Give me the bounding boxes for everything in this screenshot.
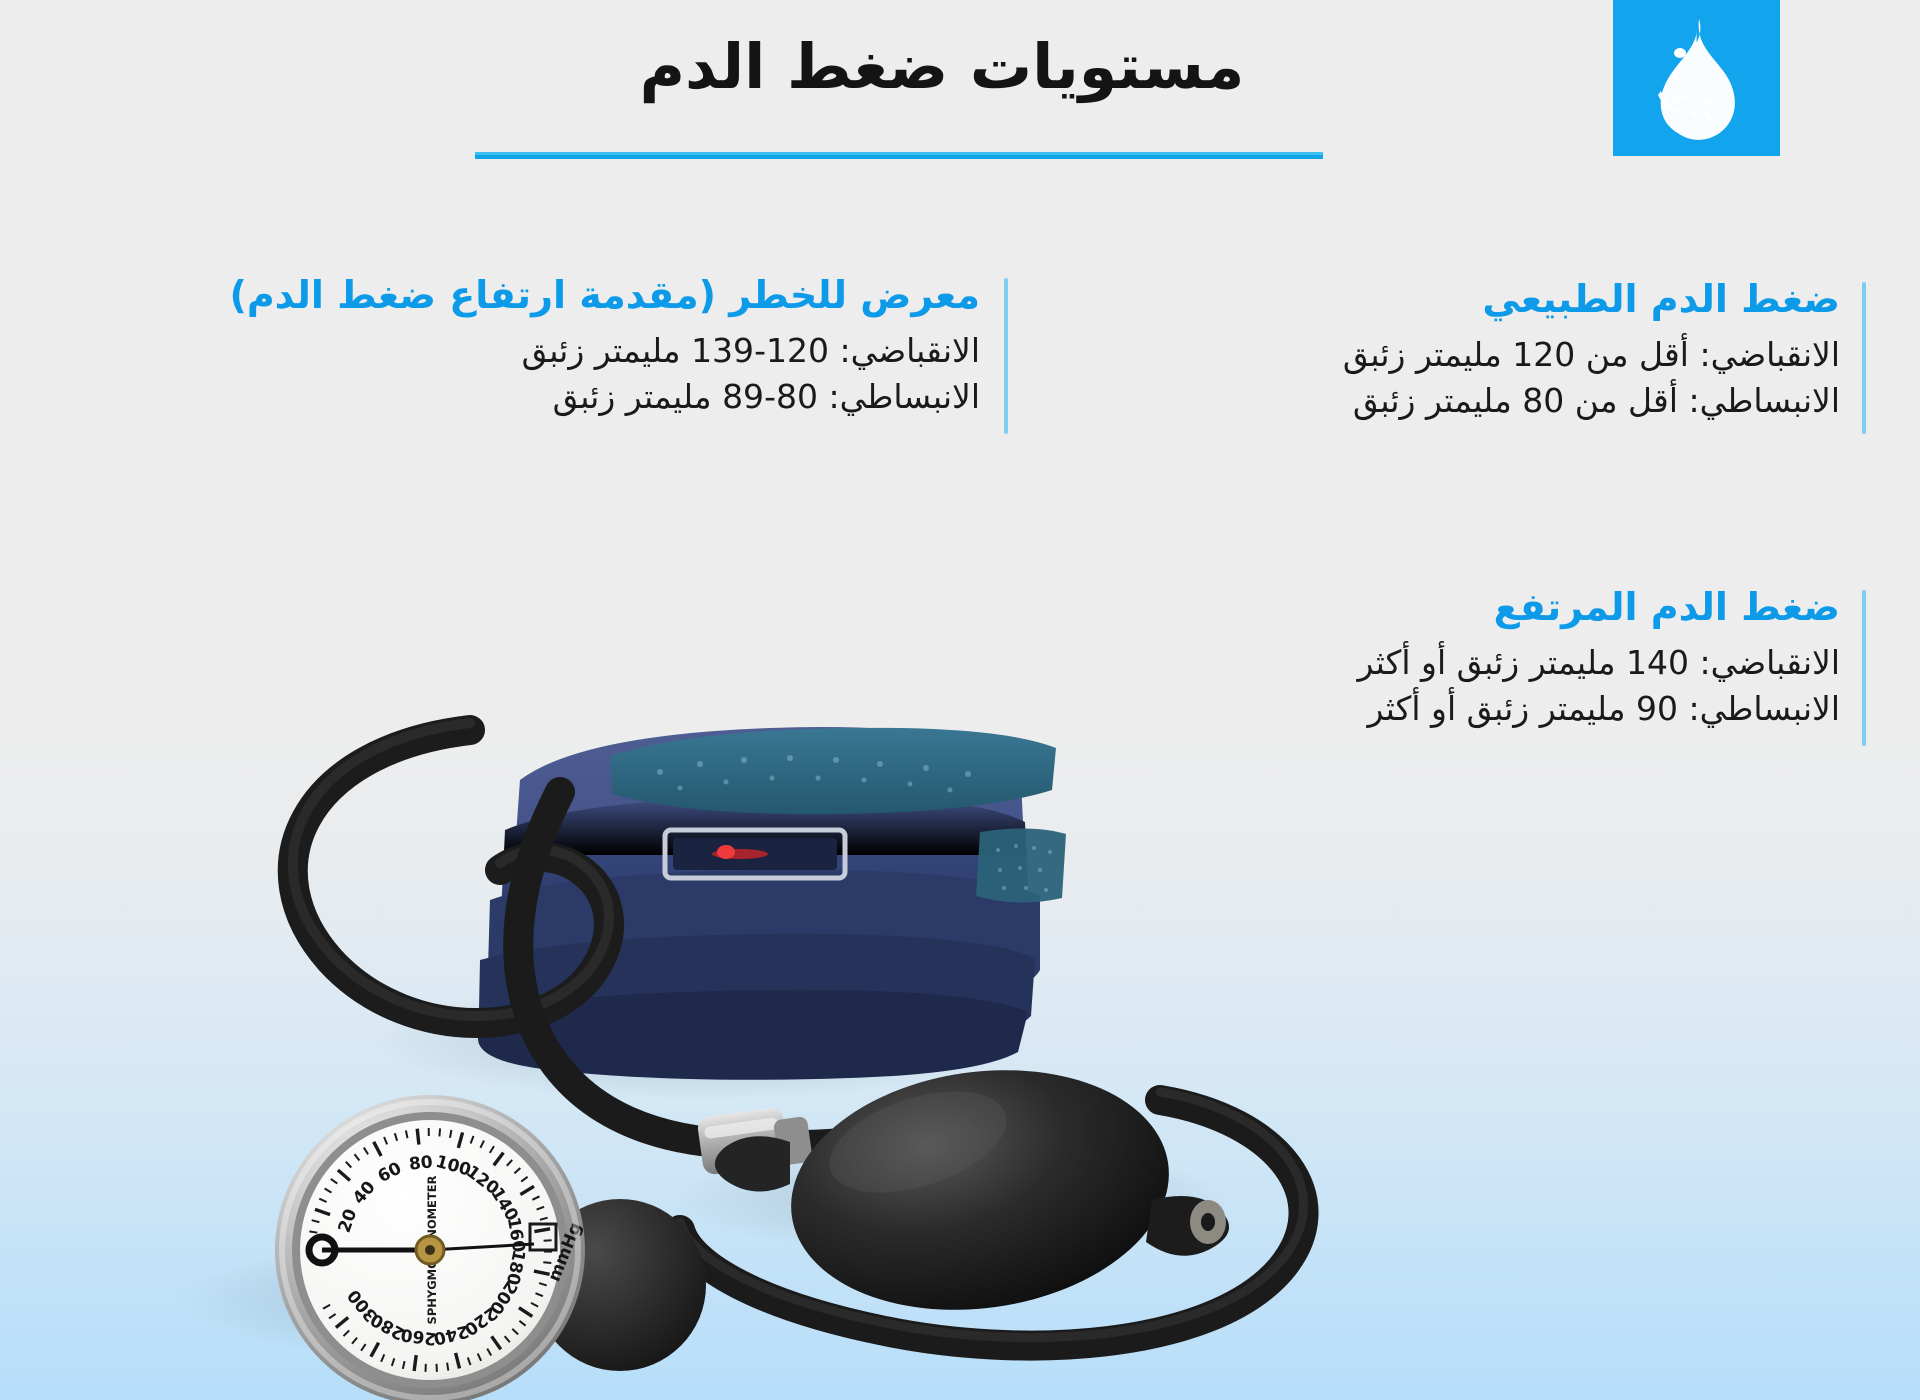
block-normal-systolic: الانقباضي: أقل من 120 مليمتر زئبق [1343, 332, 1840, 379]
title-underline [475, 152, 1323, 159]
gauge-tick-label: 80 [408, 1152, 434, 1174]
block-divider [1862, 282, 1866, 434]
sphygmomanometer-photo: 2040608010012014016018020022024026028030… [0, 400, 1500, 1400]
block-risk-systolic: الانقباضي: 120-139 مليمتر زئبق [229, 328, 980, 375]
infographic-canvas: مستويات ضغط الدم ضغط الدم الطبيعي الانقب… [0, 0, 1920, 1400]
block-at-risk-prehypertension: معرض للخطر (مقدمة ارتفاع ضغط الدم) الانق… [229, 272, 980, 421]
page-title: مستويات ضغط الدم [0, 32, 1902, 101]
block-divider [1862, 590, 1866, 746]
block-risk-heading: معرض للخطر (مقدمة ارتفاع ضغط الدم) [229, 272, 980, 320]
block-normal-heading: ضغط الدم الطبيعي [1343, 276, 1840, 324]
